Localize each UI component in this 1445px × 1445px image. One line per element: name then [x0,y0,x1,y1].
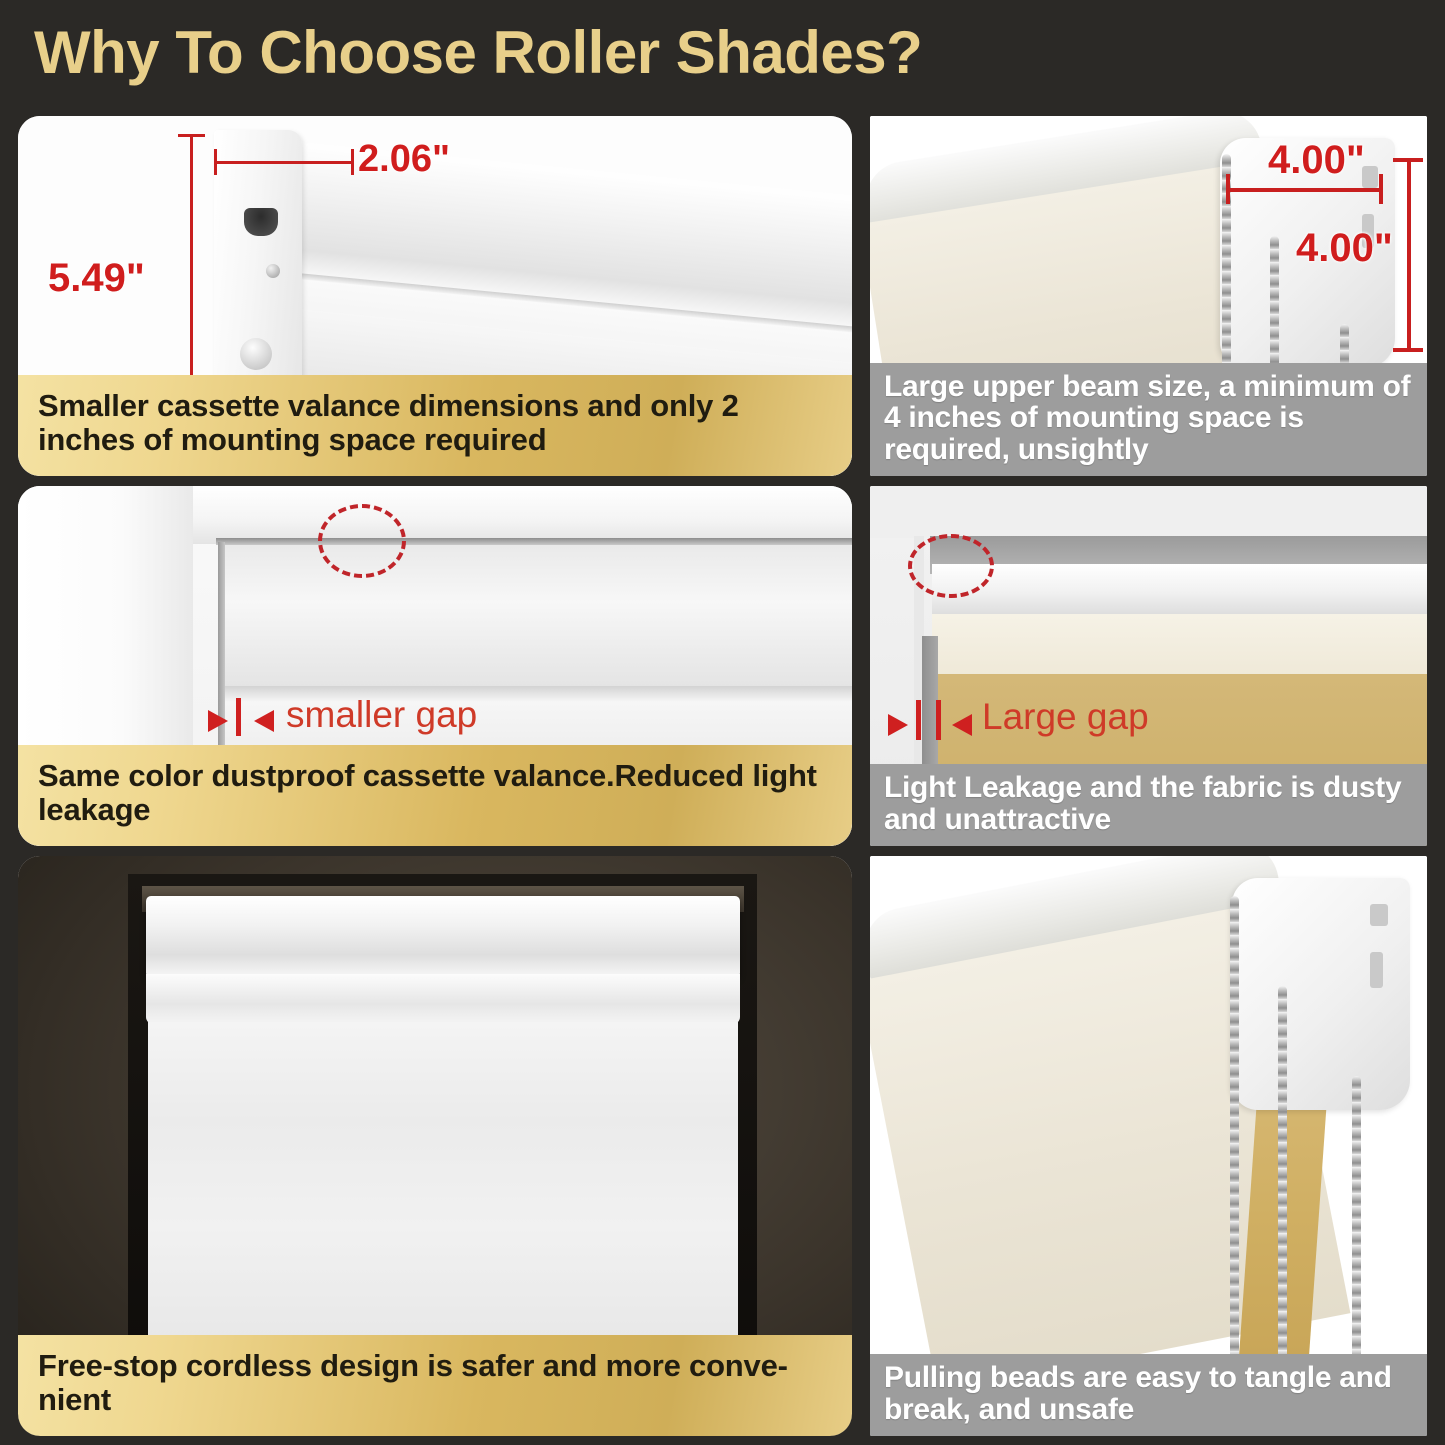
dimension-width-label: 4.00" [1268,138,1365,183]
infographic-root: Why To Choose Roller Shades? 5.49" [0,0,1445,1445]
panel-grid: 5.49" 2.06" Smaller cassette valance dim… [0,108,1445,1445]
dim-line-horizontal [1228,188,1383,192]
gap-arrow-left [208,710,228,732]
caption-panel-5: Free-stop cordless design is safer and m… [18,1335,852,1436]
dimension-height-label: 4.00" [1296,226,1393,271]
gap-arrow-left [888,714,908,736]
highlight-circle [908,534,994,598]
panel-large-beam: 4.00" 4.00" Large upper beam size, a min… [870,116,1427,476]
page-title: Why To Choose Roller Shades? [34,18,922,87]
dimension-height-label: 5.49" [48,256,145,301]
dimension-width-label: 2.06" [358,138,450,181]
panel-light-leakage: Large gap Light Leakage and the fabric i… [870,486,1427,846]
gap-arrow-right [952,714,972,736]
gap-label: Large gap [982,696,1149,738]
caption-panel-4: Light Leakage and the fabric is dusty an… [870,764,1427,846]
highlight-circle [318,504,406,578]
dim-line-horizontal [214,161,354,164]
gap-label: smaller gap [286,694,477,736]
photo-bead-chain [870,856,1427,1436]
caption-panel-1: Smaller cassette valance dimensions and … [18,375,852,476]
panel-dustproof-valance: smaller gap Same color dustproof cassett… [18,486,852,846]
caption-panel-3: Same color dustproof cassette valance.Re… [18,745,852,846]
panel-pulling-beads: Pulling beads are easy to tangle and bre… [870,856,1427,1436]
panel-cordless-design: Free-stop cordless design is safer and m… [18,856,852,1436]
caption-panel-6: Pulling beads are easy to tangle and bre… [870,1354,1427,1436]
dim-line-vertical [1407,158,1411,352]
gap-arrow-right [254,710,274,732]
panel-smaller-cassette: 5.49" 2.06" Smaller cassette valance dim… [18,116,852,476]
caption-panel-2: Large upper beam size, a minimum of 4 in… [870,363,1427,476]
